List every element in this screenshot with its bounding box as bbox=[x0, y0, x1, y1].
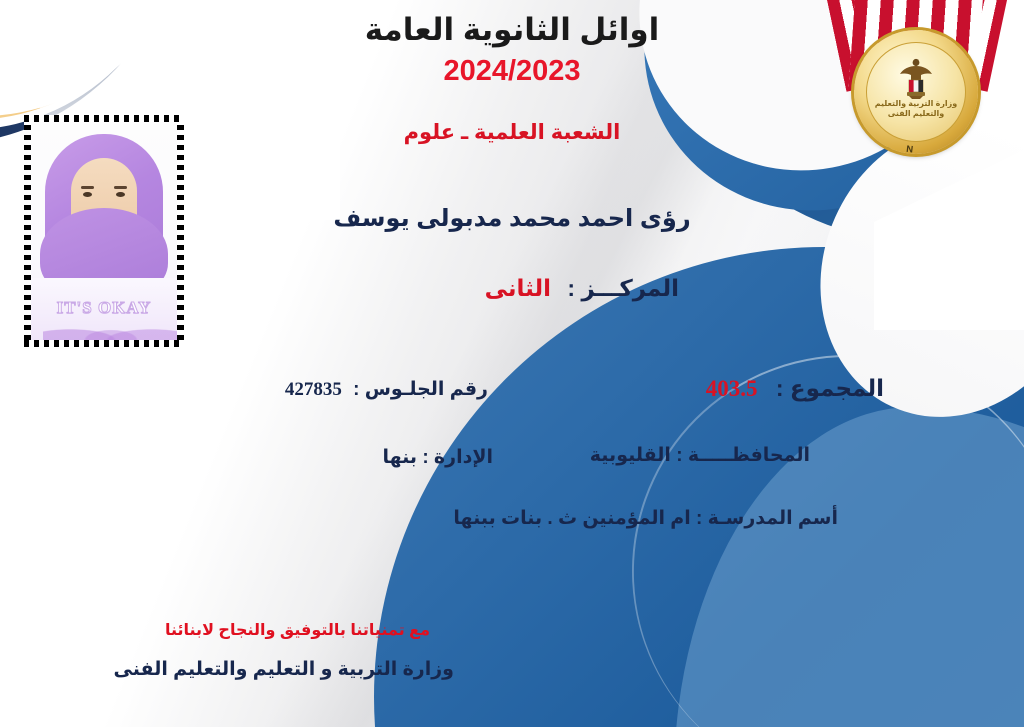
school-label: أسم المدرسـة : bbox=[696, 508, 838, 529]
administration-row: الإدارة : بنها bbox=[382, 446, 493, 469]
governorate-label: المحافظـــــة : bbox=[676, 445, 810, 466]
certificate-content: اوائل الثانوية العامة 2024/2023 الشعبة ا… bbox=[0, 0, 1024, 727]
footer-wish-text: مع تمنياتنا بالتوفيق والنجاح لابنائنا bbox=[165, 620, 430, 640]
school-value: ام المؤمنين ث . بنات ببنها bbox=[453, 508, 690, 529]
student-name: رؤى احمد محمد مدبولى يوسف bbox=[0, 204, 1024, 233]
certificate-page: MINISTRY OF EDUCATION AND TECHNICAL EDUC… bbox=[0, 0, 1024, 727]
total-score-row: المجموع : 403.5 bbox=[706, 375, 884, 402]
governorate-value: القليوبية bbox=[590, 445, 671, 466]
administration-label: الإدارة : bbox=[422, 447, 493, 468]
total-label: المجموع : bbox=[776, 375, 884, 401]
seat-label: رقم الجلـوس : bbox=[353, 379, 488, 400]
rank-value: الثانى bbox=[485, 275, 551, 301]
seat-value: 427835 bbox=[285, 379, 342, 401]
academic-year: 2024/2023 bbox=[0, 55, 1024, 88]
footer-ministry-text: وزارة التربية و التعليم والتعليم الفنى bbox=[114, 658, 454, 681]
governorate-row: المحافظـــــة : القليوبية bbox=[590, 444, 810, 467]
page-title: اوائل الثانوية العامة bbox=[0, 12, 1024, 48]
seat-number-row: رقم الجلـوس : 427835 bbox=[285, 378, 488, 401]
total-value: 403.5 bbox=[706, 376, 758, 402]
branch-label: الشعبة العلمية ـ علوم bbox=[0, 120, 1024, 145]
administration-value: بنها bbox=[382, 447, 417, 468]
rank-row: المركـــز : الثانى bbox=[485, 275, 679, 302]
school-row: أسم المدرسـة : ام المؤمنين ث . بنات ببنه… bbox=[453, 507, 838, 530]
rank-label: المركـــز : bbox=[567, 275, 679, 301]
